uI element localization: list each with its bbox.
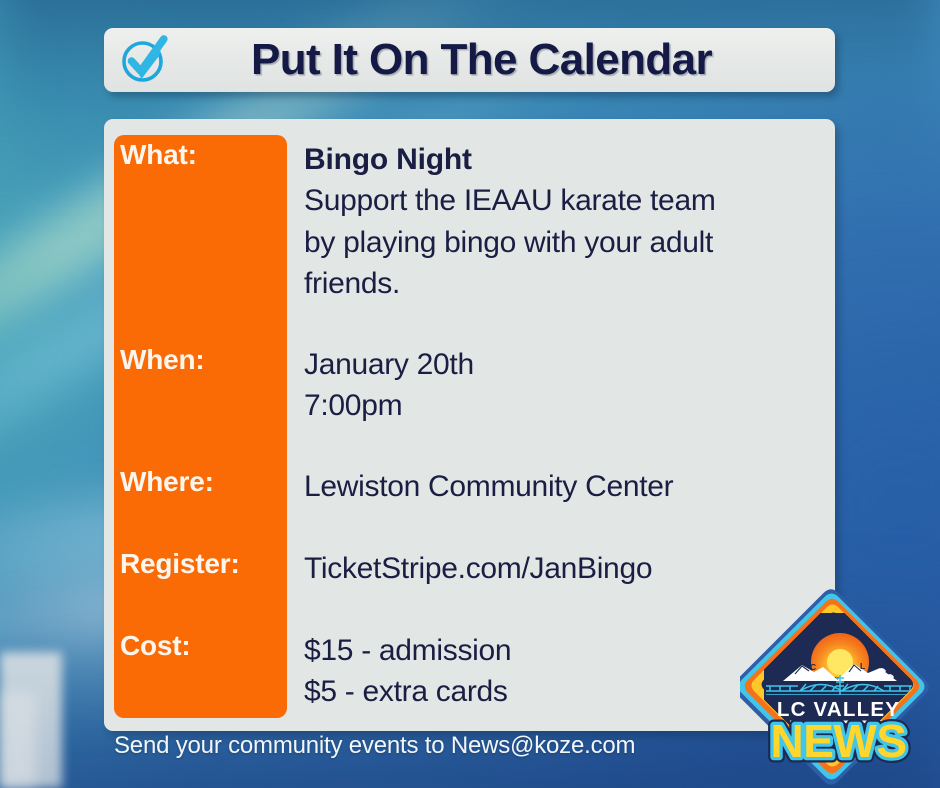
event-location: Lewiston Community Center [304, 466, 835, 507]
logo-news-fill: NEWS [771, 715, 907, 767]
event-desc-line-3: friends. [304, 263, 835, 304]
event-details-card: What: Bingo Night Support the IEAAU kara… [104, 119, 835, 731]
logo-text-news: NEWS NEWS NEWS [771, 715, 907, 767]
lc-valley-news-logo-graphic: C L LC VALLEY [740, 585, 937, 785]
event-time: 7:00pm [304, 385, 835, 426]
event-desc-line-1: Support the IEAAU karate team [304, 180, 835, 221]
table-row: When: January 20th 7:00pm [104, 344, 835, 427]
footer-note: Send your community events to News@koze.… [114, 732, 635, 760]
lc-valley-news-logo: C L LC VALLEY [740, 585, 937, 785]
registration-link[interactable]: TicketStripe.com/JanBingo [304, 548, 835, 589]
table-row: Cost: $15 - admission $5 - extra cards [104, 630, 835, 713]
row-value-register: TicketStripe.com/JanBingo [287, 548, 835, 589]
event-name: Bingo Night [304, 139, 835, 180]
row-label-when: When: [104, 344, 287, 427]
logo-peak-label-right: L [860, 661, 865, 671]
table-row: What: Bingo Night Support the IEAAU kara… [104, 139, 835, 305]
logo-peak-label-left: C [810, 662, 816, 672]
table-row: Where: Lewiston Community Center [104, 466, 835, 507]
page-title: Put It On The Calendar [176, 38, 821, 82]
row-label-cost: Cost: [104, 630, 287, 713]
event-date: January 20th [304, 344, 835, 385]
event-desc-line-2: by playing bingo with your adult [304, 222, 835, 263]
row-label-where: Where: [104, 466, 287, 507]
row-value-when: January 20th 7:00pm [287, 344, 835, 427]
row-label-register: Register: [104, 548, 287, 589]
row-value-what: Bingo Night Support the IEAAU karate tea… [287, 139, 835, 305]
circle-check-icon [118, 34, 170, 86]
row-label-what: What: [104, 139, 287, 305]
header-banner: Put It On The Calendar [104, 28, 835, 92]
row-value-where: Lewiston Community Center [287, 466, 835, 507]
table-row: Register: TicketStripe.com/JanBingo [104, 548, 835, 589]
